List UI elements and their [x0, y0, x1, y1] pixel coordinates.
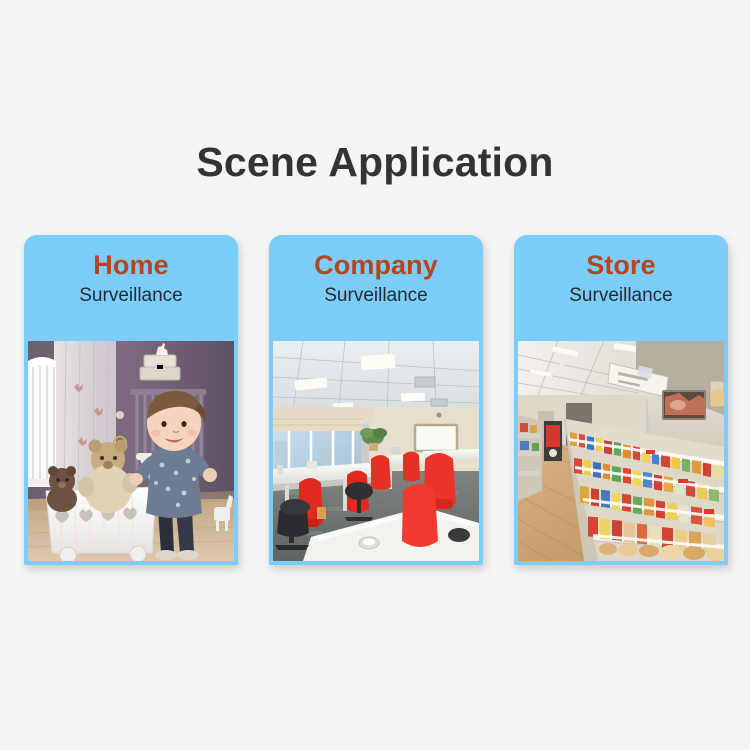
scene-card-company[interactable]: Company Surveillance — [269, 235, 483, 565]
company-office-photo — [273, 341, 479, 561]
card-header-company: Company Surveillance — [269, 235, 483, 336]
card-subtitle-store: Surveillance — [514, 283, 728, 309]
scene-card-home[interactable]: Home Surveillance — [24, 235, 238, 565]
card-photo-wrap-company — [269, 336, 483, 565]
card-title-company: Company — [269, 248, 483, 282]
page-title: Scene Application — [0, 138, 750, 187]
card-header-store: Store Surveillance — [514, 235, 728, 336]
card-title-home: Home — [24, 248, 238, 282]
card-title-store: Store — [514, 248, 728, 282]
scene-application-page: Scene Application Home Surveillance — [0, 0, 750, 750]
home-nursery-photo — [28, 341, 234, 561]
card-photo-wrap-home — [24, 336, 238, 565]
scene-card-store[interactable]: Store Surveillance — [514, 235, 728, 565]
card-subtitle-home: Surveillance — [24, 283, 238, 309]
card-photo-wrap-store — [514, 336, 728, 565]
store-aisle-photo — [518, 341, 724, 561]
scene-cards-row: Home Surveillance — [24, 235, 728, 565]
card-header-home: Home Surveillance — [24, 235, 238, 336]
card-subtitle-company: Surveillance — [269, 283, 483, 309]
